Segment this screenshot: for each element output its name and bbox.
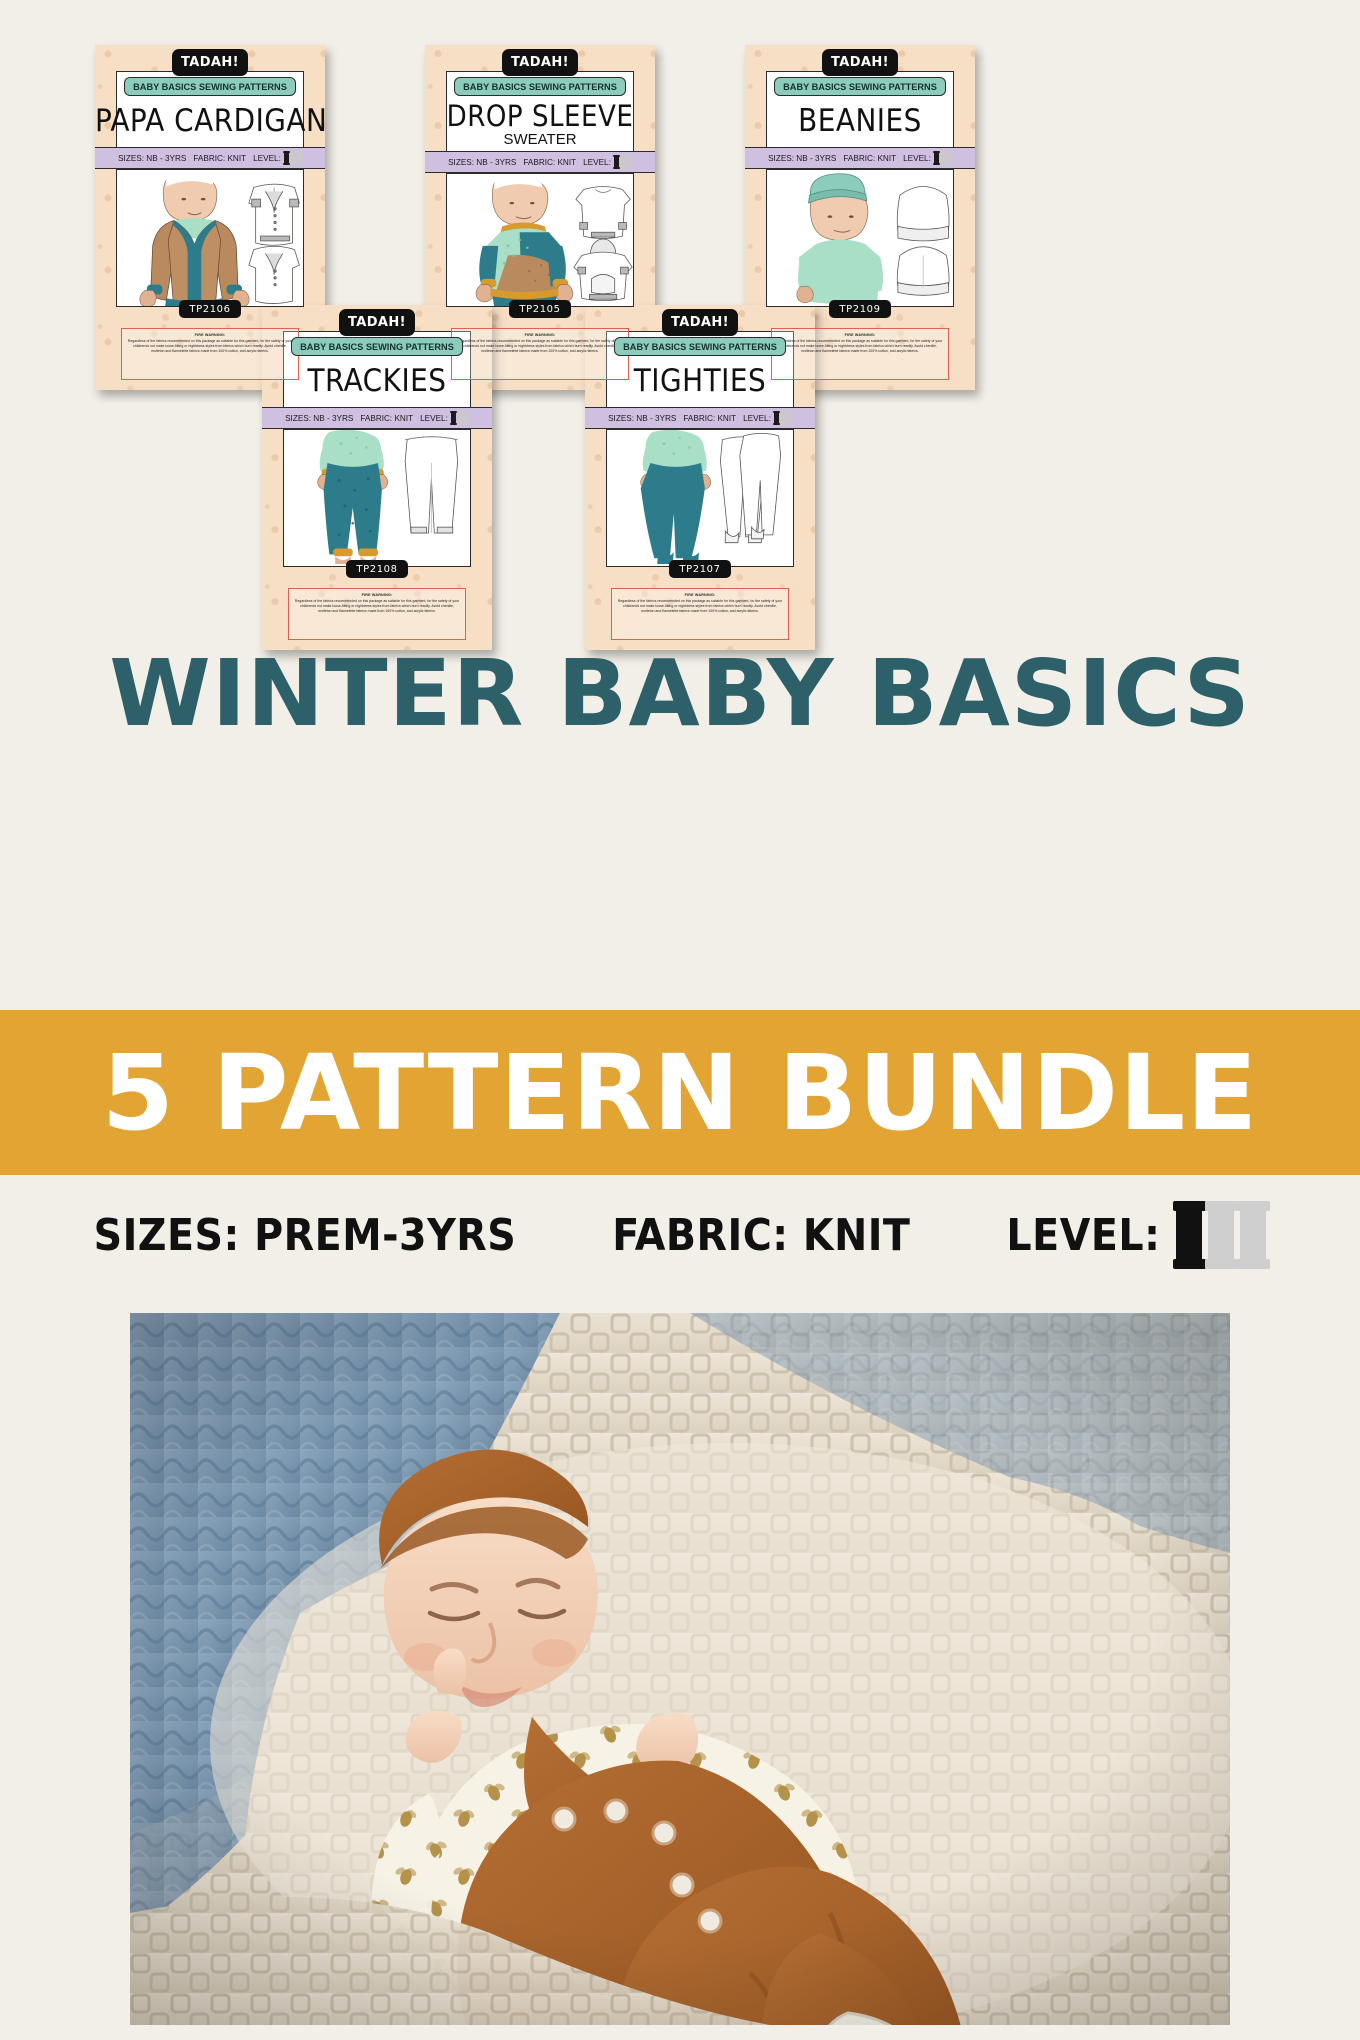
technical-flats [574,187,632,301]
card-level: LEVEL: [583,156,632,168]
card-spec-bar: SIZES: NB - 3YRS FABRIC: KNIT LEVEL: [585,407,815,429]
fire-warning-title: FIRE WARNING: [457,333,623,338]
card-title: BEANIES [745,103,975,139]
hero-photo [130,1313,1230,2025]
card-level-label: LEVEL: [253,154,281,163]
tadah-logo: TADAH! [339,309,415,336]
baby-figure [140,172,249,306]
trackies-artwork [284,430,470,566]
card-level-label: LEVEL: [743,414,771,423]
spool-icon-3 [627,156,632,168]
card-level: LEVEL: [743,412,792,424]
card-spec-bar: SIZES: NB - 3YRS FABRIC: KNIT LEVEL: [745,147,975,169]
bundle-banner-text: 5 PATTERN BUNDLE [102,1041,1259,1145]
drop-sleeve-artwork [447,174,633,306]
spool-icon-2 [1208,1204,1234,1266]
card-fabric: FABRIC: KNIT [843,154,896,163]
spool-icon-3 [297,152,302,164]
tadah-logo: TADAH! [662,309,738,336]
card-illustration-papa-cardigan [116,169,304,307]
spool-icon-3 [787,412,792,424]
spool-icon-3 [947,152,952,164]
fire-warning-body: Regardless of the fabrics recommended on… [458,339,622,353]
card-subtitle: SWEATER [425,131,655,148]
card-level-label: LEVEL: [420,414,448,423]
technical-flats [720,433,780,542]
fire-warning-title: FIRE WARNING: [127,333,293,338]
spool-icon-1 [284,152,289,164]
spool-icon-1 [451,412,456,424]
fire-warning-body: Regardless of the fabrics recommended on… [618,599,782,613]
bundle-spec-row: SIZES: PREM-3YRS FABRIC: KNIT LEVEL: [0,1190,1360,1280]
tadah-logo: TADAH! [172,49,248,76]
card-code: TP2107 [669,560,731,578]
card-fabric: FABRIC: KNIT [193,154,246,163]
spool-icon-1 [1176,1204,1202,1266]
card-illustration-tighties [606,429,794,567]
card-spec-bar: SIZES: NB - 3YRS FABRIC: KNIT LEVEL: [425,151,655,173]
page-title: WINTER BABY BASICS [0,648,1360,740]
card-fabric: FABRIC: KNIT [360,414,413,423]
spec-fabric: FABRIC: KNIT [612,1210,910,1261]
baby-figure [797,174,883,304]
level-spool-icons [934,152,952,164]
card-sizes: SIZES: NB - 3YRS [118,154,186,163]
baby-figure [476,174,573,306]
card-level-label: LEVEL: [903,154,931,163]
technical-flats [249,184,300,303]
card-banner-label: BABY BASICS SEWING PATTERNS [614,337,786,356]
spool-icon-2 [940,152,945,164]
tighties-artwork [607,430,793,566]
card-banner-label: BABY BASICS SEWING PATTERNS [291,337,463,356]
card-sizes: SIZES: NB - 3YRS [285,414,353,423]
fire-warning-box: FIRE WARNING: Regardless of the fabrics … [288,588,466,640]
bundle-banner: 5 PATTERN BUNDLE [0,1010,1360,1175]
level-spool-icons [451,412,469,424]
pattern-cards-grid: TADAH! BABY BASICS SEWING PATTERNS PAPA … [0,0,1360,650]
card-level: LEVEL: [903,152,952,164]
card-title: TIGHTIES [585,363,815,399]
level-spool-icons [614,156,632,168]
fire-warning-title: FIRE WARNING: [777,333,943,338]
beanies-artwork [767,170,953,306]
card-banner-label: BABY BASICS SEWING PATTERNS [454,77,626,96]
card-fabric: FABRIC: KNIT [683,414,736,423]
baby-figure [318,430,388,564]
card-sizes: SIZES: NB - 3YRS [448,158,516,167]
card-title: TRACKIES [262,363,492,399]
baby-photo-illustration [130,1313,1230,2025]
card-title: PAPA CARDIGAN [95,103,325,139]
level-spool-icons [284,152,302,164]
card-code: TP2106 [179,300,241,318]
card-code: TP2109 [829,300,891,318]
card-level-label: LEVEL: [583,158,611,167]
spec-level-label: LEVEL: [1006,1210,1160,1261]
tadah-logo: TADAH! [502,49,578,76]
spool-icon-2 [290,152,295,164]
card-sizes: SIZES: NB - 3YRS [608,414,676,423]
tadah-logo: TADAH! [822,49,898,76]
fire-warning-body: Regardless of the fabrics recommended on… [778,339,942,353]
spec-level: LEVEL: [1006,1204,1266,1266]
level-spool-icons [1176,1204,1266,1266]
technical-flats [897,187,949,296]
level-spool-icons [774,412,792,424]
spool-icon-3 [1240,1204,1266,1266]
spec-sizes: SIZES: PREM-3YRS [94,1210,517,1261]
spool-icon-2 [620,156,625,168]
fire-warning-box: FIRE WARNING: Regardless of the fabrics … [611,588,789,640]
card-sizes: SIZES: NB - 3YRS [768,154,836,163]
card-illustration-drop-sleeve [446,173,634,307]
card-spec-bar: SIZES: NB - 3YRS FABRIC: KNIT LEVEL: [95,147,325,169]
fire-warning-body: Regardless of the fabrics recommended on… [128,339,292,353]
card-illustration-beanies [766,169,954,307]
card-banner-label: BABY BASICS SEWING PATTERNS [774,77,946,96]
spool-icon-2 [780,412,785,424]
card-banner-label: BABY BASICS SEWING PATTERNS [124,77,296,96]
papa-cardigan-artwork [117,170,303,306]
technical-flats [405,437,457,533]
spool-icon-1 [774,412,779,424]
photo-vignette [130,1313,1230,2025]
card-code: TP2105 [509,300,571,318]
baby-figure [641,430,711,564]
fire-warning-title: FIRE WARNING: [294,593,460,598]
card-spec-bar: SIZES: NB - 3YRS FABRIC: KNIT LEVEL: [262,407,492,429]
spool-icon-3 [464,412,469,424]
pattern-card-papa-cardigan[interactable]: TADAH! BABY BASICS SEWING PATTERNS PAPA … [95,45,325,390]
card-illustration-trackies [283,429,471,567]
fire-warning-body: Regardless of the fabrics recommended on… [295,599,459,613]
spool-icon-1 [614,156,619,168]
card-fabric: FABRIC: KNIT [523,158,576,167]
card-level: LEVEL: [253,152,302,164]
spool-icon-2 [457,412,462,424]
card-level: LEVEL: [420,412,469,424]
spool-icon-1 [934,152,939,164]
card-title: DROP SLEEVE [425,99,655,133]
fire-warning-title: FIRE WARNING: [617,593,783,598]
card-code: TP2108 [346,560,408,578]
